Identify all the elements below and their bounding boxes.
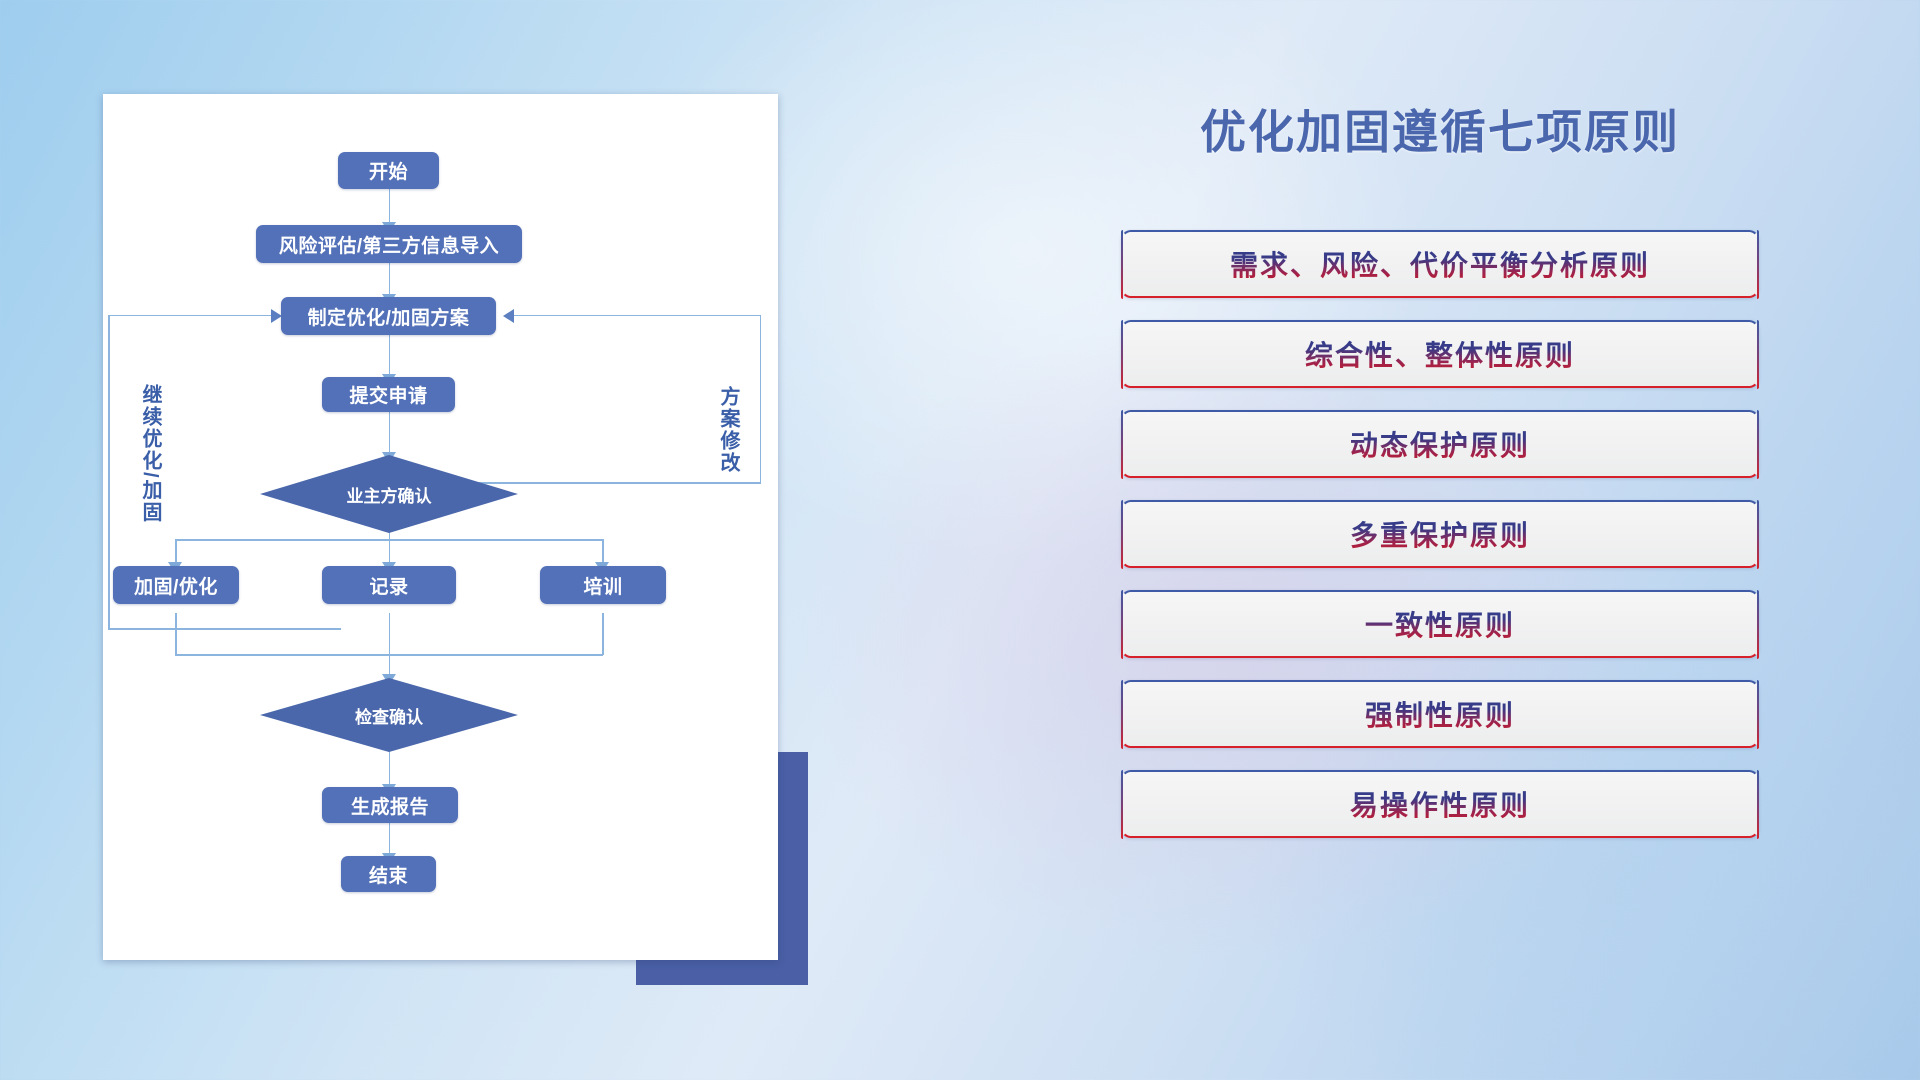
flow-node-check-confirm[interactable]: 检查确认 (260, 678, 518, 752)
connector-right-loop-top (513, 315, 760, 317)
principle-item[interactable]: 强制性原则 (1121, 680, 1759, 748)
principle-item[interactable]: 动态保护原则 (1121, 410, 1759, 478)
flow-node-owner-confirm[interactable]: 业主方确认 (260, 455, 518, 533)
connector-risk-plan (389, 262, 391, 297)
principle-label: 综合性、整体性原则 (1305, 334, 1575, 374)
flow-node-plan[interactable]: 制定优化/加固方案 (281, 297, 496, 335)
connector-left-loop-bottom (108, 628, 341, 630)
connector-training-merge (602, 613, 604, 655)
principles-panel: 优化加固遵循七项原则 需求、风险、代价平衡分析原则 综合性、整体性原则 动态保护… (960, 0, 1920, 1080)
flow-node-start[interactable]: 开始 (338, 152, 439, 189)
arrowhead-right-loop-plan (503, 309, 514, 323)
connector-report-end (389, 820, 391, 856)
connector-submit-owner (389, 410, 391, 455)
flowchart-stage: 继续优化/加固 方案修改 开始 风险评估/第三方信息导入 制定优化/加固方案 提… (103, 94, 778, 960)
principle-label: 一致性原则 (1365, 604, 1515, 644)
flow-node-submit[interactable]: 提交申请 (322, 377, 455, 412)
flow-node-reinforce[interactable]: 加固/优化 (113, 566, 239, 604)
connector-record-check (389, 613, 391, 678)
connector-right-loop-bottom (461, 482, 761, 484)
flow-node-training[interactable]: 培训 (540, 566, 666, 604)
principle-label: 易操作性原则 (1350, 784, 1530, 824)
principles-list: 需求、风险、代价平衡分析原则 综合性、整体性原则 动态保护原则 多重保护原则 一… (840, 230, 1920, 860)
principles-title: 优化加固遵循七项原则 (960, 96, 1920, 162)
flow-node-end[interactable]: 结束 (341, 856, 436, 892)
principle-item[interactable]: 易操作性原则 (1121, 770, 1759, 838)
principle-label: 动态保护原则 (1350, 424, 1530, 464)
flow-node-risk-assessment[interactable]: 风险评估/第三方信息导入 (256, 225, 522, 263)
flowchart-card: 继续优化/加固 方案修改 开始 风险评估/第三方信息导入 制定优化/加固方案 提… (103, 94, 778, 960)
principle-label: 强制性原则 (1365, 694, 1515, 734)
principle-label: 需求、风险、代价平衡分析原则 (1230, 244, 1650, 284)
flow-node-report[interactable]: 生成报告 (322, 787, 458, 823)
edge-label-left-loop: 继续优化/加固 (139, 384, 160, 524)
principle-item[interactable]: 综合性、整体性原则 (1121, 320, 1759, 388)
connector-plan-submit (389, 334, 391, 377)
connector-start-risk (389, 188, 391, 225)
connector-reinforce-merge (175, 613, 177, 655)
principle-item[interactable]: 多重保护原则 (1121, 500, 1759, 568)
connector-right-loop-vertical (760, 315, 762, 483)
principle-item[interactable]: 一致性原则 (1121, 590, 1759, 658)
flow-node-record[interactable]: 记录 (322, 566, 456, 604)
edge-label-right-loop: 方案修改 (717, 386, 738, 474)
connector-left-loop-vertical (108, 315, 110, 629)
principle-item[interactable]: 需求、风险、代价平衡分析原则 (1121, 230, 1759, 298)
connector-left-loop-top (108, 315, 278, 317)
principle-label: 多重保护原则 (1350, 514, 1530, 554)
